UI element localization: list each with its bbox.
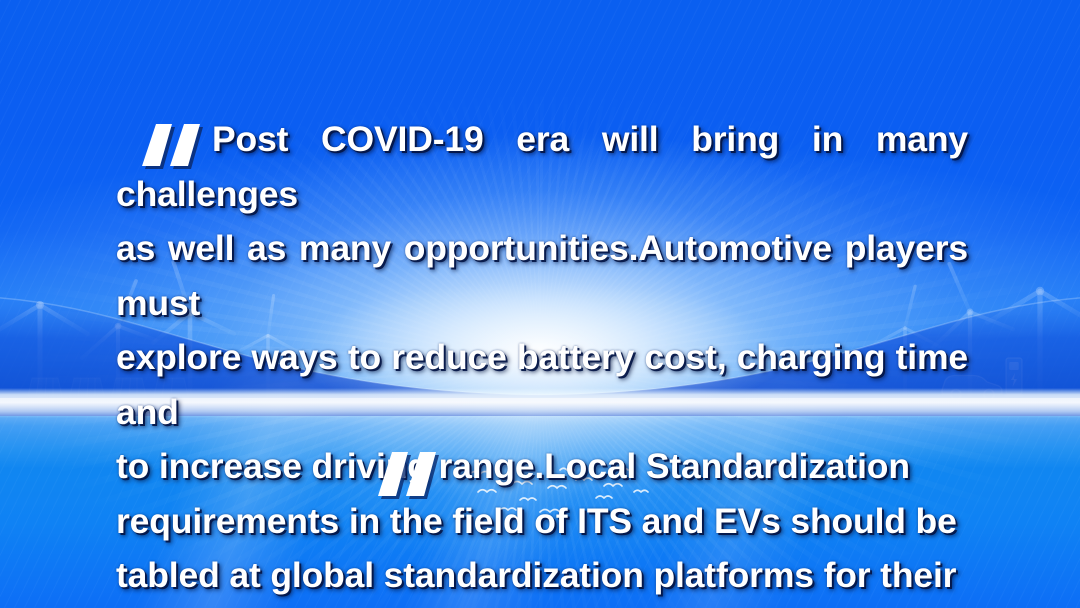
quote-line-3: explore ways to reduce battery cost, cha… bbox=[116, 330, 968, 439]
quote-slide: Post COVID-19 era will bring in many cha… bbox=[0, 0, 1080, 608]
quote-line-text: as well as many opportunities.Automotive… bbox=[116, 228, 968, 323]
quote-line-text: to increase driving range.Local Standard… bbox=[116, 446, 910, 486]
quote-line-1: Post COVID-19 era will bring in many cha… bbox=[116, 112, 968, 221]
quote-line-text: requirements in the field of ITS and EVs… bbox=[116, 501, 957, 541]
quote-line-text: tabled at global standardization platfor… bbox=[116, 555, 956, 595]
quote-line-7: harmonization. bbox=[116, 603, 968, 608]
quote-line-4: to increase driving range.Local Standard… bbox=[116, 439, 968, 494]
quote-text: Post COVID-19 era will bring in many cha… bbox=[116, 112, 968, 608]
quote-line-6: tabled at global standardization platfor… bbox=[116, 548, 968, 603]
quote-line-2: as well as many opportunities.Automotive… bbox=[116, 221, 968, 330]
quote-block: Post COVID-19 era will bring in many cha… bbox=[116, 112, 968, 608]
quote-line-5: requirements in the field of ITS and EVs… bbox=[116, 494, 968, 549]
quote-line-text: explore ways to reduce battery cost, cha… bbox=[116, 337, 968, 432]
quote-line-text: Post COVID-19 era will bring in many cha… bbox=[116, 119, 968, 214]
